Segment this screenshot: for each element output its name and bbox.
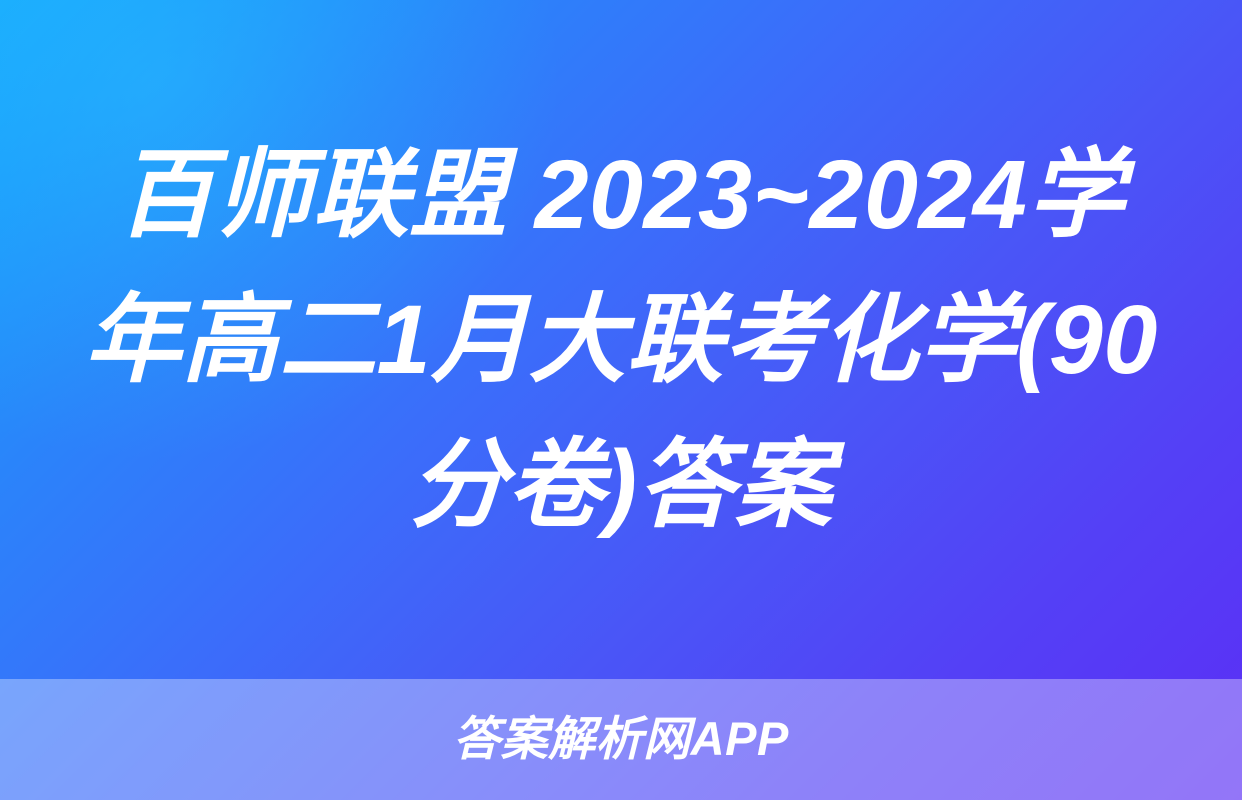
footer-band: 答案解析网APP: [0, 679, 1242, 800]
title-area: 百师联盟 2023~2024学年高二1月大联考化学(90分卷)答案: [0, 0, 1242, 679]
poster-title: 百师联盟 2023~2024学年高二1月大联考化学(90分卷)答案: [81, 122, 1161, 557]
app-name-watermark: 答案解析网APP: [453, 715, 789, 764]
answer-poster: 百师联盟 2023~2024学年高二1月大联考化学(90分卷)答案 答案解析网A…: [0, 0, 1242, 800]
